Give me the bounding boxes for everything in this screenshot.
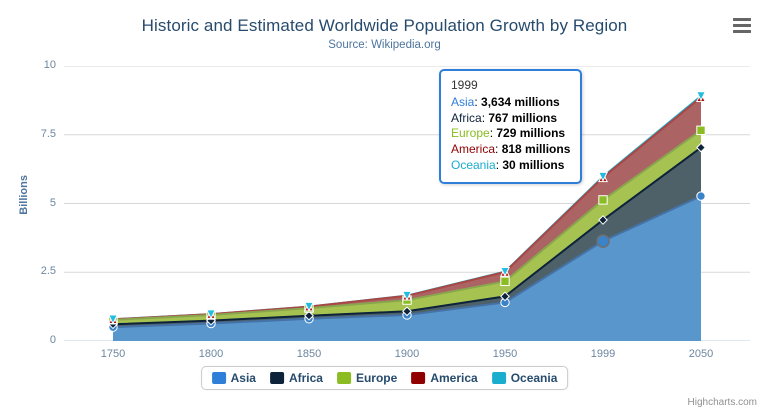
tooltip-series-value: 767 millions [488,111,557,125]
menu-bar-1 [733,18,751,21]
chart-container: Historic and Estimated Worldwide Populat… [0,0,769,416]
legend-swatch-icon [212,372,226,384]
tooltip-row: America: 818 millions [451,142,570,158]
y-axis-tick-label: 5 [16,198,56,209]
chart-plot-svg [64,66,750,341]
tooltip-row: Asia: 3,634 millions [451,95,570,111]
legend-swatch-icon [337,372,351,384]
x-axis-tick-label: 1800 [199,348,223,360]
tooltip-series-value: 818 millions [502,142,571,156]
marker-asia-2050 [697,192,705,200]
hamburger-menu-icon[interactable] [729,14,755,36]
y-axis-tick-label: 0 [16,335,56,346]
y-axis-tick-label: 7.5 [16,129,56,140]
legend-label: Asia [231,371,256,385]
x-axis-tick-label: 1999 [591,348,615,360]
legend-label: America [430,371,477,385]
tooltip-series-name: America [451,142,495,156]
tooltip-header: 1999 [451,78,570,94]
marker-europe-1950 [501,277,509,285]
legend-item-europe[interactable]: Europe [337,371,397,385]
legend-label: Africa [289,371,323,385]
credits-link[interactable]: Highcharts.com [688,397,757,408]
plot-area [64,66,750,341]
legend-item-america[interactable]: America [411,371,477,385]
legend-swatch-icon [492,372,506,384]
legend-item-asia[interactable]: Asia [212,371,256,385]
tooltip-series-name: Africa [451,111,482,125]
y-axis-tick-label: 10 [16,60,56,71]
tooltip-series-name: Asia [451,95,474,109]
tooltip-separator: : [474,95,481,109]
tooltip-row: Oceania: 30 millions [451,158,570,174]
legend-item-oceania[interactable]: Oceania [492,371,558,385]
legend-label: Oceania [511,371,558,385]
tooltip-row: Europe: 729 millions [451,126,570,142]
x-axis-tick-label: 1850 [297,348,321,360]
tooltip-series-value: 3,634 millions [481,95,560,109]
marker-europe-1999 [599,196,607,204]
tooltip-series-value: 729 millions [496,126,565,140]
legend-label: Europe [356,371,397,385]
tooltip-series-value: 30 millions [502,158,564,172]
chart-subtitle: Source: Wikipedia.org [0,39,769,51]
marker-europe-2050 [697,126,705,134]
chart-tooltip: 1999 Asia: 3,634 millionsAfrica: 767 mil… [439,69,582,184]
legend-item-africa[interactable]: Africa [270,371,323,385]
tooltip-series-name: Europe [451,126,490,140]
y-axis-labels: 02.557.510 [8,0,56,416]
chart-legend: AsiaAfricaEuropeAmericaOceania [201,366,569,390]
legend-swatch-icon [270,372,284,384]
tooltip-rows: Asia: 3,634 millionsAfrica: 767 millions… [451,95,570,174]
x-axis-labels: 1750180018501900195019992050 [64,346,750,364]
x-axis-tick-label: 1750 [101,348,125,360]
chart-title: Historic and Estimated Worldwide Populat… [0,16,769,36]
x-axis-tick-label: 2050 [689,348,713,360]
highlighted-point-asia-1999 [597,235,609,247]
tooltip-series-name: Oceania [451,158,496,172]
tooltip-row: Africa: 767 millions [451,111,570,127]
legend-swatch-icon [411,372,425,384]
tooltip-separator: : [495,142,502,156]
x-axis-tick-label: 1950 [493,348,517,360]
x-axis-tick-label: 1900 [395,348,419,360]
menu-bar-3 [733,30,751,33]
menu-bar-2 [733,24,751,27]
y-axis-tick-label: 2.5 [16,266,56,277]
